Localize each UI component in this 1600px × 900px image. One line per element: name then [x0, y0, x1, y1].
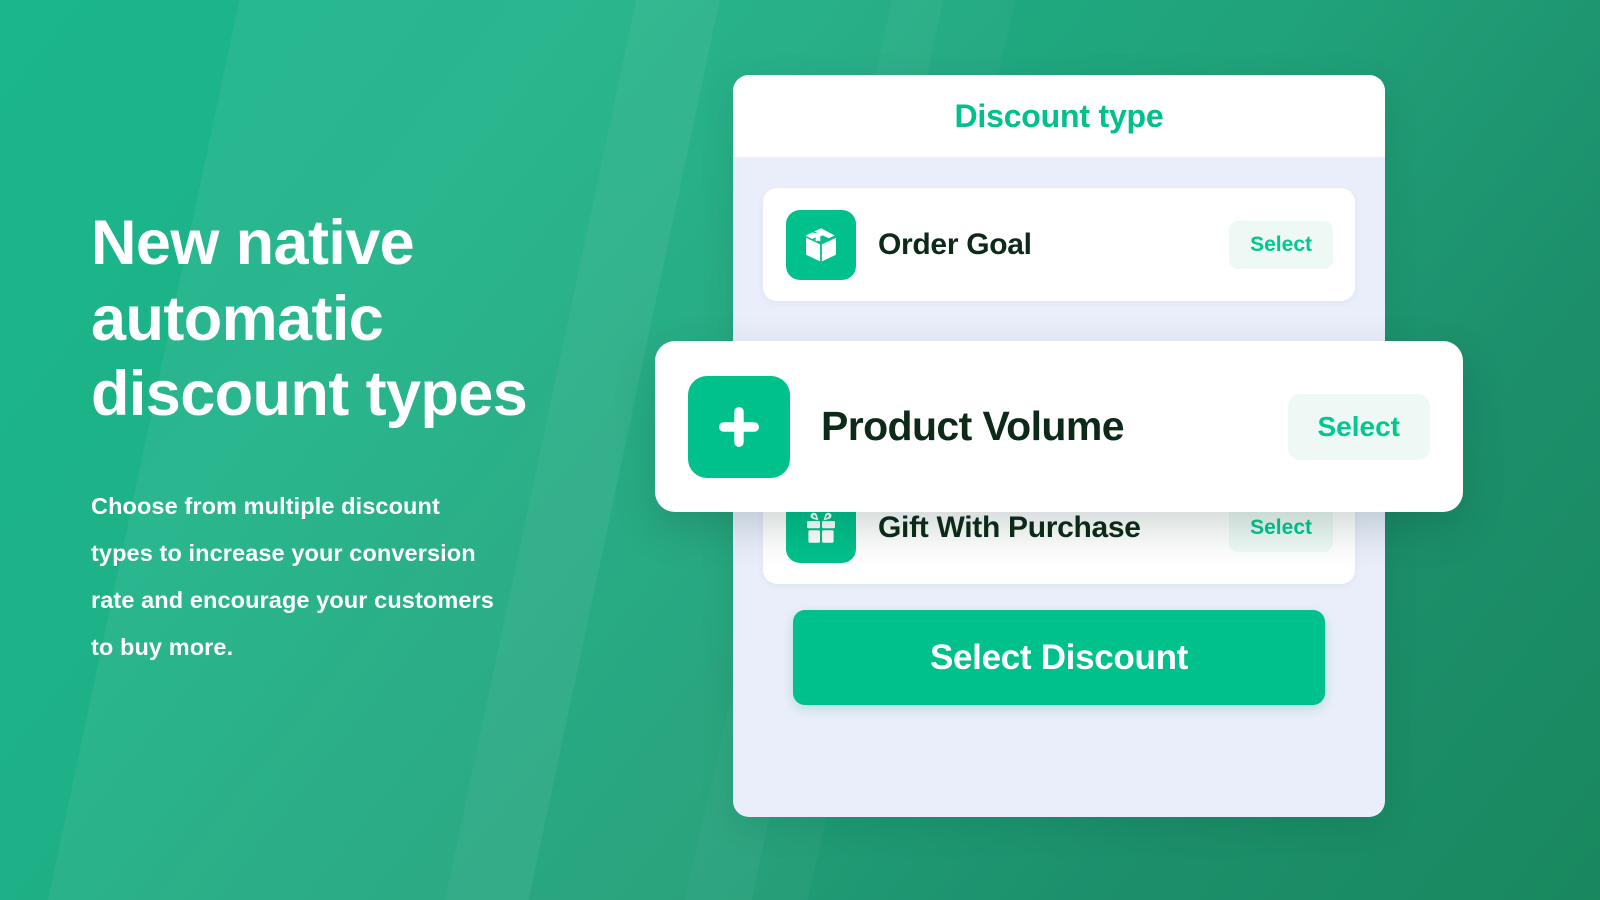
discount-row-product-volume[interactable]: Product Volume Select	[655, 341, 1463, 512]
plus-icon	[688, 376, 790, 478]
page-title: New native automatic discount types	[91, 206, 651, 433]
discount-row-order-goal[interactable]: Order Goal Select	[763, 188, 1355, 301]
select-button-order-goal[interactable]: Select	[1229, 221, 1333, 269]
select-discount-button[interactable]: Select Discount	[793, 610, 1325, 705]
panel-header: Discount type	[733, 75, 1385, 157]
promo-banner: New native automatic discount types Choo…	[0, 0, 1600, 900]
discount-row-title: Gift With Purchase	[878, 511, 1141, 545]
cta-wrapper: Select Discount	[763, 584, 1355, 705]
hero-copy: New native automatic discount types Choo…	[91, 206, 651, 671]
package-box-icon	[786, 210, 856, 280]
panel-header-title: Discount type	[955, 98, 1164, 135]
discount-row-title: Product Volume	[821, 403, 1124, 450]
select-button-product-volume[interactable]: Select	[1288, 394, 1431, 460]
discount-row-title: Order Goal	[878, 228, 1032, 262]
hero-subcopy: Choose from multiple discount types to i…	[91, 483, 571, 671]
